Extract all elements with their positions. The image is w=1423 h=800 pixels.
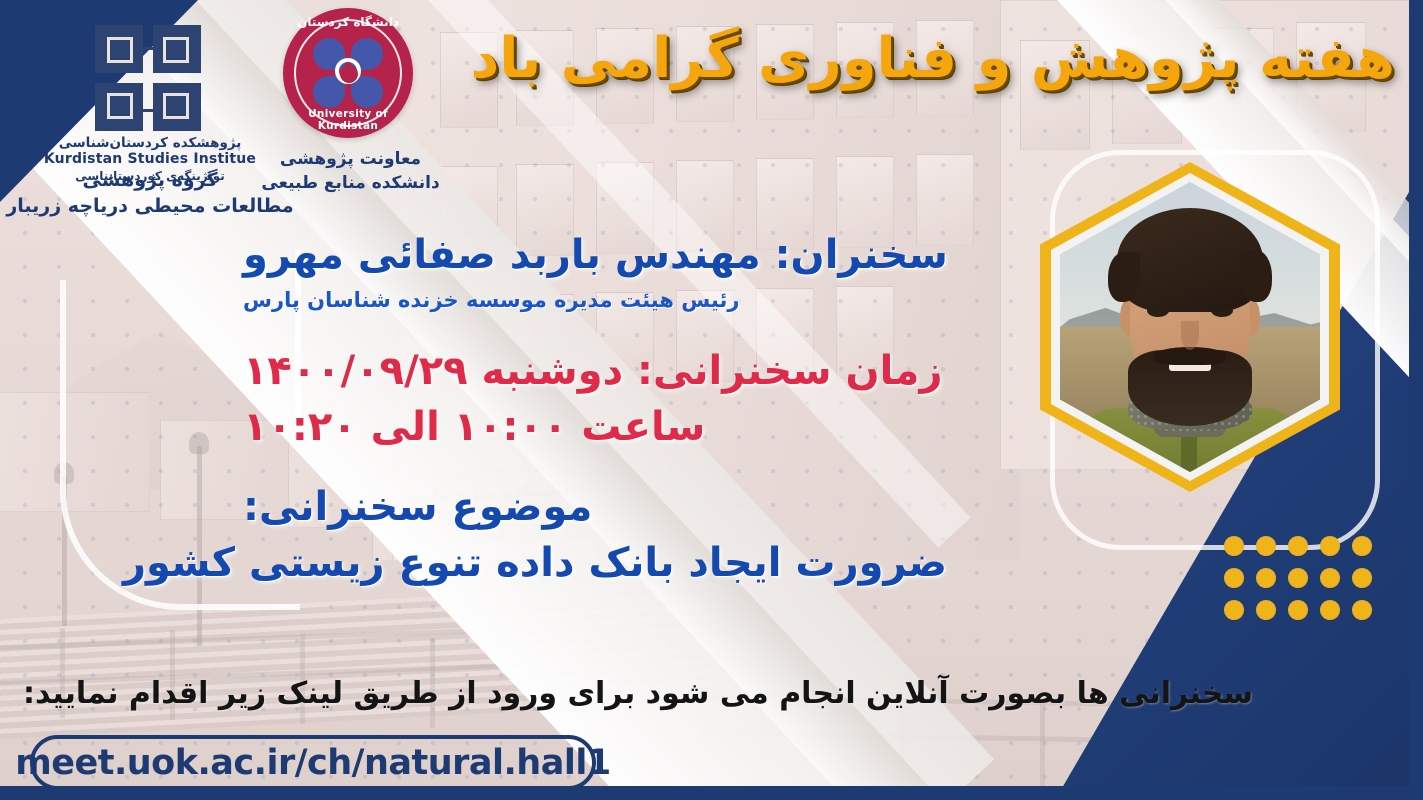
gold-dot-grid — [1218, 536, 1372, 626]
topic-label: موضوع سخنرانی: — [243, 484, 1003, 530]
kurdistan-studies-institute-logo-icon — [95, 25, 203, 133]
faculty-caption-line-2: دانشکده منابع طبیعی — [243, 172, 458, 196]
speaker-title: رئیس هیئت مدیره موسسه خزنده شناسان پارس — [243, 288, 1003, 312]
speaker-portrait — [1040, 162, 1340, 492]
right-navy-edge — [1409, 0, 1423, 800]
meeting-link-button[interactable]: meet.uok.ac.ir/ch/natural.hall1 — [30, 735, 596, 790]
online-attendance-note: سخنرانی ها بصورت آنلاین انجام می شود برا… — [23, 676, 1283, 711]
topic-title: ضرورت ایجاد بانک داده تنوع زیستی کشور — [123, 540, 1003, 586]
schedule-time: ساعت ۱۰:۰۰ الی ۱۰:۲۰ — [243, 404, 1003, 450]
schedule-date: زمان سخنرانی: دوشنبه ۱۴۰۰/۰۹/۲۹ — [243, 348, 1003, 394]
faculty-caption-line-1: معاونت پژوهشی — [243, 148, 458, 172]
meeting-link-text[interactable]: meet.uok.ac.ir/ch/natural.hall1 — [15, 743, 610, 783]
event-poster: دانشکده منابع طبیعی — [0, 0, 1423, 800]
university-of-kurdistan-logo-icon: دانشگاه کردستان University of Kurdistan — [283, 8, 413, 138]
university-name-en: University of Kurdistan — [283, 108, 413, 132]
speaker-name: سخنران: مهندس باربد صفائی مهرو — [243, 232, 1003, 278]
research-group-line-2: مطالعات محیطی دریاچه زریبار — [0, 194, 300, 220]
poster-headline: هفته پژوهش و فناوری گرامی باد — [515, 24, 1395, 94]
university-name-fa: دانشگاه کردستان — [283, 15, 413, 29]
faculty-caption: معاونت پژوهشی دانشکده منابع طبیعی — [243, 148, 458, 196]
